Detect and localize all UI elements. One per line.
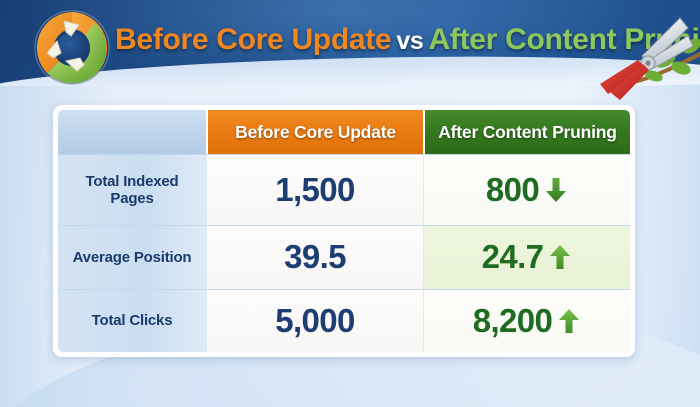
metric-label: Total Clicks	[58, 289, 206, 352]
table-header-row: Before Core Update After Content Pruning	[58, 110, 630, 154]
after-value: 24.7	[482, 238, 544, 276]
metric-label: Average Position	[58, 225, 206, 288]
infographic-canvas: Before Core UpdatevsAfter Content Prunin…	[0, 0, 700, 407]
after-value-cell: 8,200	[423, 289, 630, 352]
arrow-down-icon	[544, 176, 568, 204]
before-value: 5,000	[206, 289, 423, 352]
title-before-text: Before Core Update	[115, 23, 391, 56]
after-value: 8,200	[473, 302, 553, 340]
before-value: 39.5	[206, 225, 423, 288]
metric-column-header	[58, 110, 206, 154]
pruning-shears-icon	[596, 16, 700, 101]
recycle-circle-icon	[33, 9, 111, 87]
before-column-header: Before Core Update	[206, 110, 423, 154]
table-row: Total Clicks 5,000 8,200	[58, 289, 630, 352]
arrow-up-icon	[557, 307, 581, 335]
comparison-table: Before Core Update After Content Pruning…	[53, 105, 635, 357]
table-row: Total Indexed Pages 1,500 800	[58, 154, 630, 225]
metric-label: Total Indexed Pages	[58, 154, 206, 225]
title-vs-text: vs	[396, 27, 423, 55]
table-row: Average Position 39.5 24.7	[58, 225, 630, 288]
after-column-header: After Content Pruning	[423, 110, 630, 154]
arrow-up-icon	[548, 243, 572, 271]
after-value-cell: 24.7	[423, 225, 630, 288]
before-value: 1,500	[206, 154, 423, 225]
after-value-cell: 800	[423, 154, 630, 225]
after-value: 800	[486, 171, 539, 209]
